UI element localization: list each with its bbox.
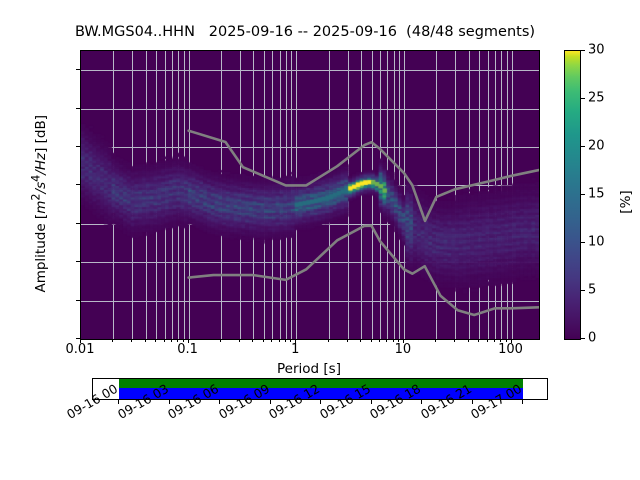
x-tick-mark-minor (328, 339, 329, 342)
colorbar-tick-label: 25 (588, 91, 605, 106)
x-tick-mark-minor (220, 339, 221, 342)
x-tick-mark-minor (279, 339, 280, 342)
x-tick-mark-minor (386, 339, 387, 342)
x-tick-mark-minor (271, 339, 272, 342)
x-tick-mark-minor (239, 339, 240, 342)
timeline-tick-mark (371, 400, 372, 404)
colorbar-tick-mark (581, 146, 585, 147)
timeline-tick-mark (472, 400, 473, 404)
x-tick-mark-minor (371, 339, 372, 342)
ppsd-plot-area[interactable] (80, 50, 540, 340)
timeline-tick-mark (320, 400, 321, 404)
colorbar-tick-mark (581, 242, 585, 243)
colorbar-tick-label: 0 (588, 331, 596, 346)
y-axis-label: Amplitude [m2/s4/Hz] [dB] (29, 54, 49, 354)
x-tick-mark-minor (145, 339, 146, 342)
x-tick-label: 0.1 (177, 342, 198, 357)
colorbar-tick-mark (581, 290, 585, 291)
x-tick-mark-minor (454, 339, 455, 342)
colorbar[interactable] (564, 50, 581, 340)
timeline-tick-mark (270, 400, 271, 404)
colorbar-tick-mark (581, 98, 585, 99)
ppsd-figure: BW.MGS04..HHN 2025-09-16 -- 2025-09-16 (… (0, 0, 640, 480)
x-tick-label: 1 (291, 342, 299, 357)
x-tick-mark-minor (285, 339, 286, 342)
x-tick-mark-minor (347, 339, 348, 342)
x-tick-mark-minor (478, 339, 479, 342)
x-tick-mark-minor (468, 339, 469, 342)
colorbar-label: [%] (618, 162, 634, 242)
x-tick-label: 10 (395, 342, 412, 357)
timeline-tick-mark (522, 400, 523, 404)
colorbar-tick-mark (581, 194, 585, 195)
x-tick-mark-minor (263, 339, 264, 342)
colorbar-tick-label: 5 (588, 283, 596, 298)
x-tick-label: 0.01 (66, 342, 95, 357)
x-tick-mark-minor (379, 339, 380, 342)
x-tick-mark-minor (155, 339, 156, 342)
colorbar-tick-label: 10 (588, 235, 605, 250)
colorbar-tick-mark (581, 338, 585, 339)
x-tick-mark-minor (164, 339, 165, 342)
timeline-tick-mark (219, 400, 220, 404)
x-tick-mark-minor (487, 339, 488, 342)
x-tick-label: 100 (498, 342, 523, 357)
timeline-tick-mark (421, 400, 422, 404)
x-tick-mark-minor (393, 339, 394, 342)
timeline-tick-mark (118, 400, 119, 404)
x-tick-mark-minor (435, 339, 436, 342)
x-tick-mark-minor (112, 339, 113, 342)
colorbar-tick-label: 15 (588, 187, 605, 202)
colorbar-tick-mark (581, 50, 585, 51)
colorbar-tick-label: 30 (588, 43, 605, 58)
x-tick-mark-minor (171, 339, 172, 342)
x-tick-mark-minor (131, 339, 132, 342)
x-tick-mark-minor (494, 339, 495, 342)
ppsd-histogram (81, 51, 539, 339)
colorbar-tick-label: 20 (588, 139, 605, 154)
x-tick-mark-minor (252, 339, 253, 342)
x-axis-label: Period [s] (80, 361, 538, 377)
x-tick-mark-minor (360, 339, 361, 342)
page-title: BW.MGS04..HHN 2025-09-16 -- 2025-09-16 (… (0, 24, 610, 40)
timeline-tick-mark (169, 400, 170, 404)
